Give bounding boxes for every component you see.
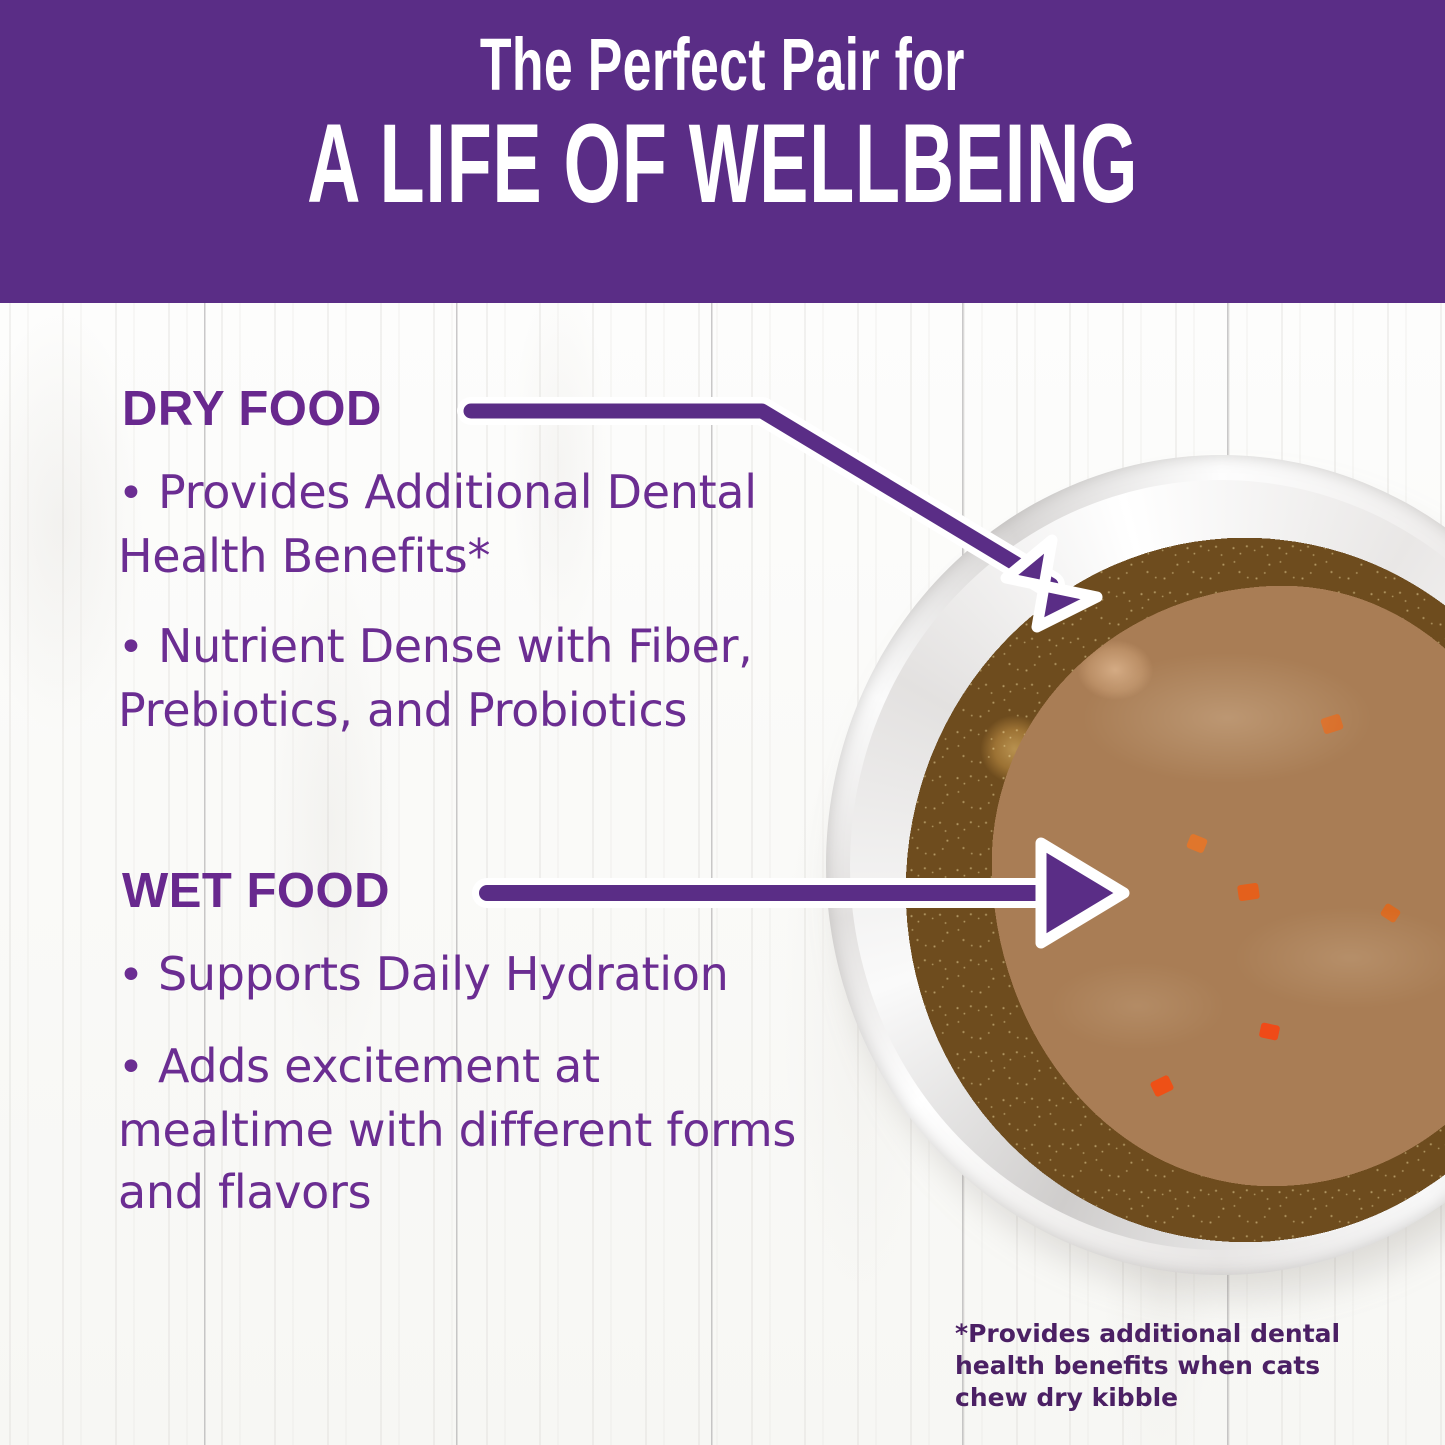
list-item-text: Adds excitement at mealtime with differe… bbox=[118, 1039, 796, 1219]
wet-food-arrow-head bbox=[1041, 843, 1124, 943]
list-item: • Supports Daily Hydration bbox=[118, 943, 808, 1007]
bullet-dot-icon: • bbox=[118, 1042, 144, 1093]
bullet-dot-icon: • bbox=[118, 950, 144, 1001]
list-item: • Provides Additional Dental Health Bene… bbox=[118, 461, 808, 587]
benefits-copy-column: DRY FOOD • Provides Additional Dental He… bbox=[0, 303, 830, 1445]
dry-food-heading: DRY FOOD bbox=[122, 381, 382, 437]
wet-food-heading: WET FOOD bbox=[122, 863, 390, 919]
product-benefits-infographic: The Perfect Pair for A LIFE OF WELLBEING bbox=[0, 0, 1445, 1445]
list-item-text: Supports Daily Hydration bbox=[158, 947, 728, 1001]
footnote-disclaimer: *Provides additional dental health benef… bbox=[955, 1318, 1375, 1414]
list-item-text: Nutrient Dense with Fiber, Prebiotics, a… bbox=[118, 619, 753, 737]
wet-food-bullet-list: • Supports Daily Hydration • Adds excite… bbox=[118, 943, 808, 1251]
list-item: • Adds excitement at mealtime with diffe… bbox=[118, 1035, 808, 1223]
dry-food-bullet-list: • Provides Additional Dental Health Bene… bbox=[118, 461, 808, 769]
bullet-dot-icon: • bbox=[118, 468, 144, 519]
list-item: • Nutrient Dense with Fiber, Prebiotics,… bbox=[118, 615, 808, 741]
list-item-text: Provides Additional Dental Health Benefi… bbox=[118, 465, 757, 583]
bullet-dot-icon: • bbox=[118, 622, 144, 673]
